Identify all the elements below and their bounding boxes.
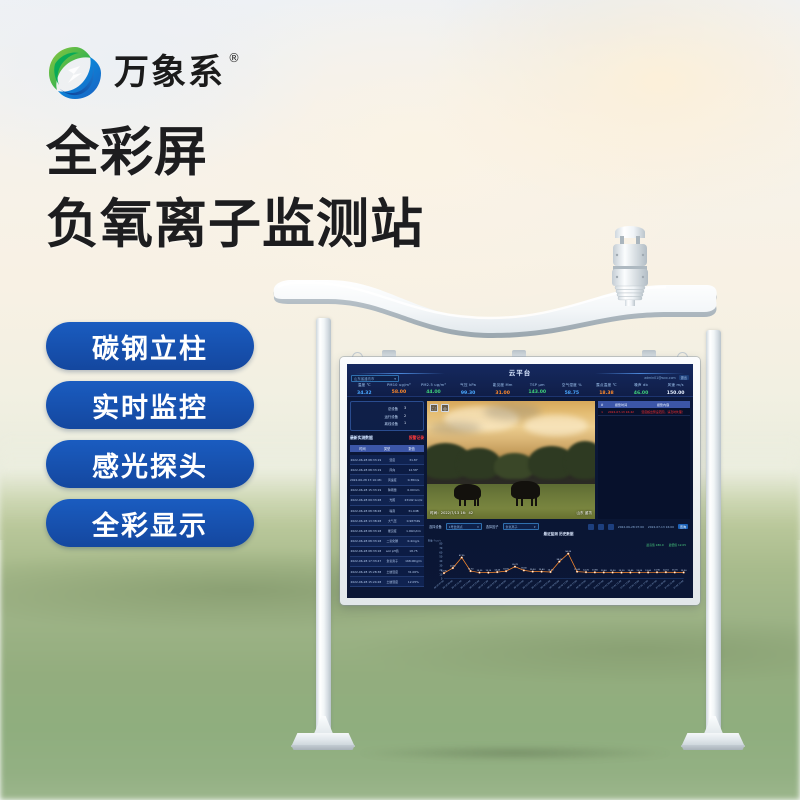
cell-value: 12.05% (403, 580, 424, 584)
alarm-column-time: 报警时间 (606, 402, 636, 407)
cell-type: 噪音 (382, 509, 403, 513)
carbon-steel-post-left (316, 318, 331, 732)
dashboard-screen[interactable]: 云平台 山东省潍坊市 ▾ admin01@wxx.com 退出 温度 ℃ 34.… (347, 364, 693, 598)
alarm-content: 温度超出预设范围，请及时处理！ (636, 410, 690, 414)
svg-text:13.20: 13.20 (619, 570, 625, 572)
user-name: admin01@wxx.com (644, 376, 675, 380)
device-select[interactable]: 1号监测点 ▾ (446, 523, 482, 530)
table-row[interactable]: 2022-06-28 08:33:18soil pH值18.75 (350, 547, 424, 557)
cell-type: 能见度 (382, 529, 403, 533)
column-value: 数值 (399, 446, 424, 451)
metric-value: 34.32 (347, 391, 382, 396)
table-row[interactable]: 2022-06-28 13:38:28大气压0.987hPa (350, 516, 424, 526)
table-row[interactable]: 2022-06-28 08:33:18能见度1.00m/km (350, 526, 424, 536)
cell-time: 2022-06-28 17:33:47 (350, 559, 382, 563)
stat-value: 1 (404, 421, 418, 426)
video-timestamp: 时间：2022/7/13 16：42 (430, 511, 473, 516)
cell-type: 风向 (382, 468, 403, 472)
alarm-column-content: 报警内容 (636, 402, 690, 407)
monitoring-station: 云平台 山东省潍坊市 ▾ admin01@wxx.com 退出 温度 ℃ 34.… (0, 0, 800, 800)
metric-label: PM2.5 ug/m³ (416, 383, 451, 387)
svg-text:13.50: 13.50 (681, 570, 687, 572)
table-row[interactable]: 2022-06-28 08:38:28噪音31.0dB (350, 506, 424, 516)
snapshot-icon[interactable]: ◎ (441, 404, 449, 412)
metric-item: PM10 ug/m³ 58.00 (382, 383, 417, 396)
cabinet-tab-1 (382, 350, 396, 357)
svg-text:40: 40 (439, 560, 443, 563)
column-time: 时间 (350, 446, 375, 451)
table-row[interactable]: 2022-06-28 08:33:18二氧化碳0.4mg/L (350, 537, 424, 547)
metric-item: TSP μm 143.00 (520, 383, 555, 396)
metric-value: 150.00 (658, 391, 693, 396)
cell-value: 0.38m/s (403, 478, 424, 482)
svg-text:50: 50 (439, 556, 443, 559)
cell-type: 光照 (382, 498, 403, 502)
stat-key: 离线设备 (356, 421, 404, 426)
left-panel: 总设备 3 运行设备 2 离线设备 1 最新实测数据 (350, 401, 424, 595)
alarm-column-index: # (598, 403, 606, 407)
svg-text:14.10: 14.10 (663, 570, 669, 572)
site-select[interactable]: 山东省潍坊市 ▾ (351, 375, 399, 382)
metric-item: 能见度 Mm 31.00 (485, 383, 520, 396)
stat-key: 总设备 (356, 406, 404, 411)
svg-text:13.90: 13.90 (654, 570, 660, 572)
cell-time: 2022-06-28 08:33:19 (350, 458, 382, 462)
svg-text:13.70: 13.70 (672, 570, 678, 572)
history-chart-panel: 选择设备 1号监测点 ▾ 选择因子 负氧离子 ▾ (427, 522, 690, 595)
right-panel: ⛶ ◎ 时间：2022/7/13 16：42 山东 潍坊 # 报警时间 报警 (427, 401, 690, 595)
stat-value: 3 (404, 406, 418, 411)
cell-time: 2022-06-28 08:33:18 (350, 529, 382, 533)
svg-text:13.60: 13.60 (601, 570, 607, 572)
svg-text:80: 80 (439, 542, 443, 545)
table-row[interactable]: 2022-06-28 15:28:38土壤温度31.00% (350, 567, 424, 577)
svg-text:16.70: 16.70 (468, 568, 474, 570)
cell-value: 31.0dB (403, 509, 424, 513)
cabinet-tab-3 (642, 350, 656, 357)
cell-value: 12.58° (403, 468, 424, 472)
metric-label: PM10 ug/m³ (382, 383, 417, 387)
svg-text:13.80: 13.80 (592, 570, 598, 572)
chevron-down-icon: ▾ (534, 525, 536, 529)
user-area[interactable]: admin01@wxx.com 退出 (644, 375, 689, 380)
svg-text:14.40: 14.40 (494, 569, 500, 571)
metric-item: 空气湿度 % 58.75 (555, 383, 590, 396)
svg-text:70: 70 (439, 547, 443, 550)
cell-type: soil pH值 (382, 549, 403, 553)
svg-text:14.20: 14.20 (583, 570, 589, 572)
fullscreen-icon[interactable]: ⛶ (430, 404, 438, 412)
product-poster: 万象系 ® 全彩屏 负氧离子监测站 碳钢立柱 实时监控 感光探头 全彩显示 (0, 0, 800, 800)
metric-item: 风速 m/s 150.00 (658, 383, 693, 396)
cell-type: 负氧离子 (382, 559, 403, 563)
svg-text:47.55: 47.55 (459, 555, 465, 557)
factor-select-value: 负氧离子 (506, 525, 518, 529)
device-select-label: 选择设备 (429, 524, 442, 529)
cell-time: 2022-06-28 15:24:28 (350, 580, 382, 584)
svg-text:60: 60 (439, 551, 443, 554)
cell-time: 2022-06-28 08:38:28 (350, 509, 382, 513)
metric-label: 能见度 Mm (485, 383, 520, 388)
tree-line (565, 441, 595, 479)
chart-legend: 最高值 180.0 最低值 12.05 (646, 543, 686, 547)
alarm-index: 1 (598, 410, 606, 414)
svg-text:13.40: 13.40 (628, 570, 634, 572)
site-select-value: 山东省潍坊市 (354, 376, 374, 381)
metric-value: 99.30 (451, 391, 486, 396)
svg-text:16.50: 16.50 (503, 569, 509, 571)
svg-text:18.30: 18.30 (521, 568, 527, 570)
cell-time: 2022-06-28 15:33:19 (350, 488, 382, 492)
factor-select-label: 选择因子 (486, 524, 499, 529)
table-row[interactable]: 2022-06-28 17:16:48:38风速度0.38m/s (350, 475, 424, 485)
metric-bar: 温度 ℃ 34.32 PM10 ug/m³ 58.00 PM2.5 ug/m³ … (347, 383, 693, 396)
svg-text:数值(个/cm³): 数值(个/cm³) (428, 539, 441, 543)
metric-value: 44.00 (416, 390, 451, 395)
legend-max: 最高值 180.0 (646, 543, 663, 547)
svg-text:13.10: 13.10 (485, 570, 491, 572)
cabinet-tab-2 (512, 350, 526, 357)
metric-label: 风速 m/s (658, 383, 693, 388)
table-row[interactable]: 2022-06-28 15:24:28土壤湿度12.05% (350, 577, 424, 587)
cell-value: 31.87 (403, 458, 424, 462)
ultrasonic-weather-sensor-icon (604, 222, 656, 306)
data-table-columns: 时间 类型 数值 (350, 445, 424, 452)
svg-text:10: 10 (439, 573, 443, 576)
svg-text:13.60: 13.60 (645, 570, 651, 572)
screen-body: 总设备 3 运行设备 2 离线设备 1 最新实测数据 (347, 398, 693, 598)
stat-row: 离线设备 1 (356, 421, 418, 426)
video-and-alarm: ⛶ ◎ 时间：2022/7/13 16：42 山东 潍坊 # 报警时间 报警 (427, 401, 690, 519)
svg-text:56.30: 56.30 (565, 551, 571, 553)
cell-value: 31.00% (403, 570, 424, 574)
table-row[interactable]: 2022-06-28 08:33:19风向12.58° (350, 465, 424, 475)
chevron-down-icon: ▾ (394, 377, 396, 381)
cell-value: 0.4mg/L (403, 539, 424, 543)
cell-value: 18.75 (403, 549, 424, 553)
table-row[interactable]: 2022-06-28 15:33:19降雨量0.00mm (350, 486, 424, 496)
alarm-panel: # 报警时间 报警内容 1 2022-07-13 16:42 温度超出预设范围，… (598, 401, 690, 519)
data-table-rows: 2022-06-28 08:33:19温度31.87 2022-06-28 08… (350, 455, 424, 595)
metric-value: 143.00 (520, 390, 555, 395)
stat-row: 总设备 3 (356, 406, 418, 411)
device-select-value: 1号监测点 (449, 525, 463, 529)
svg-text:26.70: 26.70 (512, 564, 518, 566)
metric-item: 噪声 db 46.00 (624, 383, 659, 396)
alarm-row[interactable]: 1 2022-07-13 16:42 温度超出预设范围，请及时处理！ (598, 408, 690, 416)
metric-label: 露点温度 ℃ (589, 383, 624, 388)
metric-item: 露点温度 ℃ 18.38 (589, 383, 624, 396)
metric-label: 温度 ℃ (347, 383, 382, 388)
svg-text:13.30: 13.30 (636, 570, 642, 572)
table-row[interactable]: 2022-06-28 08:33:19温度31.87 (350, 455, 424, 465)
list-view-icon[interactable] (588, 524, 594, 530)
svg-text:14.70: 14.70 (548, 569, 554, 571)
stat-row: 运行设备 2 (356, 414, 418, 419)
alarm-columns: # 报警时间 报警内容 (598, 401, 690, 408)
svg-text:15.40: 15.40 (539, 569, 545, 571)
cell-value: 0.987hPa (403, 519, 424, 523)
cell-time: 2022-06-28 15:28:38 (350, 570, 382, 574)
ground-shadow (290, 742, 740, 764)
cell-type: 大气压 (382, 519, 403, 523)
cell-time: 2022-06-28 17:16:48:38 (350, 478, 382, 482)
alarm-time: 2022-07-13 16:42 (606, 410, 636, 414)
cell-type: 土壤湿度 (382, 580, 403, 584)
svg-text:07-02 13:00: 07-02 13:00 (674, 580, 685, 590)
legend-min: 最低值 12.05 (669, 543, 686, 547)
chart-toolbar: 选择设备 1号监测点 ▾ 选择因子 负氧离子 ▾ (427, 522, 690, 531)
cell-type: 风速度 (382, 478, 403, 482)
chevron-down-icon: ▾ (477, 525, 479, 529)
svg-text:12.05: 12.05 (441, 570, 447, 572)
svg-text:30: 30 (439, 564, 443, 567)
chart-view-icon[interactable] (598, 524, 604, 530)
svg-text:15.40: 15.40 (574, 569, 580, 571)
metric-label: TSP μm (520, 383, 555, 387)
data-table-header: 最新实测数据 报警记录 (350, 434, 424, 442)
cell-time: 2022-06-28 08:33:18 (350, 549, 382, 553)
metric-value: 58.00 (382, 390, 417, 395)
logout-button[interactable]: 退出 (679, 375, 689, 380)
camera-feed[interactable]: ⛶ ◎ 时间：2022/7/13 16：42 山东 潍坊 (427, 401, 595, 519)
carbon-steel-post-right (706, 330, 721, 732)
cell-type: 温度 (382, 458, 403, 462)
table-row[interactable]: 2022-06-28 09:33:28光照23192 lux/lx (350, 496, 424, 506)
cell-value: 23192 lux/lx (403, 498, 424, 502)
video-location-tag: 山东 潍坊 (576, 511, 592, 516)
cell-value: 1.00m/km (403, 529, 424, 533)
table-row[interactable]: 2022-06-28 17:33:47负氧离子168.00lg/m (350, 557, 424, 567)
column-type: 类型 (375, 446, 400, 451)
svg-text:13.30: 13.30 (477, 570, 483, 572)
metric-value: 31.00 (485, 391, 520, 396)
date-to[interactable]: 2022-07-13 16:00 (648, 525, 674, 529)
metric-label: 噪声 db (624, 383, 659, 388)
metric-item: PM2.5 ug/m³ 44.00 (416, 383, 451, 396)
metric-value: 18.38 (589, 391, 624, 396)
data-table-title: 最新实测数据 (350, 435, 373, 441)
cell-type: 二氧化碳 (382, 539, 403, 543)
date-from[interactable]: 2022-06-28 07:00 (618, 525, 644, 529)
svg-text:13.50: 13.50 (610, 570, 616, 572)
metric-label: 气压 kPa (451, 383, 486, 388)
svg-text:38.20: 38.20 (556, 559, 562, 561)
device-stats: 总设备 3 运行设备 2 离线设备 1 (350, 401, 424, 431)
metric-item: 气压 kPa 99.30 (451, 383, 486, 396)
metric-value: 58.75 (555, 391, 590, 396)
cell-time: 2022-06-28 09:33:28 (350, 498, 382, 502)
cell-time: 2022-06-28 13:38:28 (350, 519, 382, 523)
cell-type: 土壤温度 (382, 570, 403, 574)
cloud-dark (430, 422, 480, 434)
metric-item: 温度 ℃ 34.32 (347, 383, 382, 396)
metric-value: 46.00 (624, 391, 659, 396)
screen-header: 云平台 山东省潍坊市 ▾ admin01@wxx.com 退出 温度 ℃ 34.… (347, 364, 693, 397)
stat-value: 2 (404, 414, 418, 419)
chart-title: 最近监测 历史数据 (427, 532, 690, 537)
alarm-records-link[interactable]: 报警记录 (409, 435, 424, 441)
query-button[interactable]: 查询 (678, 524, 688, 529)
cell-time: 2022-06-28 08:33:19 (350, 468, 382, 472)
export-icon[interactable] (608, 524, 614, 530)
svg-text:23.60: 23.60 (450, 565, 456, 567)
factor-select[interactable]: 负氧离子 ▾ (503, 523, 539, 530)
stat-key: 运行设备 (356, 414, 404, 419)
video-controls[interactable]: ⛶ ◎ (430, 404, 449, 412)
cell-time: 2022-06-28 08:33:18 (350, 539, 382, 543)
cell-value: 168.00lg/m (403, 559, 424, 563)
cell-type: 降雨量 (382, 488, 403, 492)
cell-value: 0.00mm (403, 488, 424, 492)
svg-text:15.50: 15.50 (530, 569, 536, 571)
metric-label: 空气湿度 % (555, 383, 590, 388)
